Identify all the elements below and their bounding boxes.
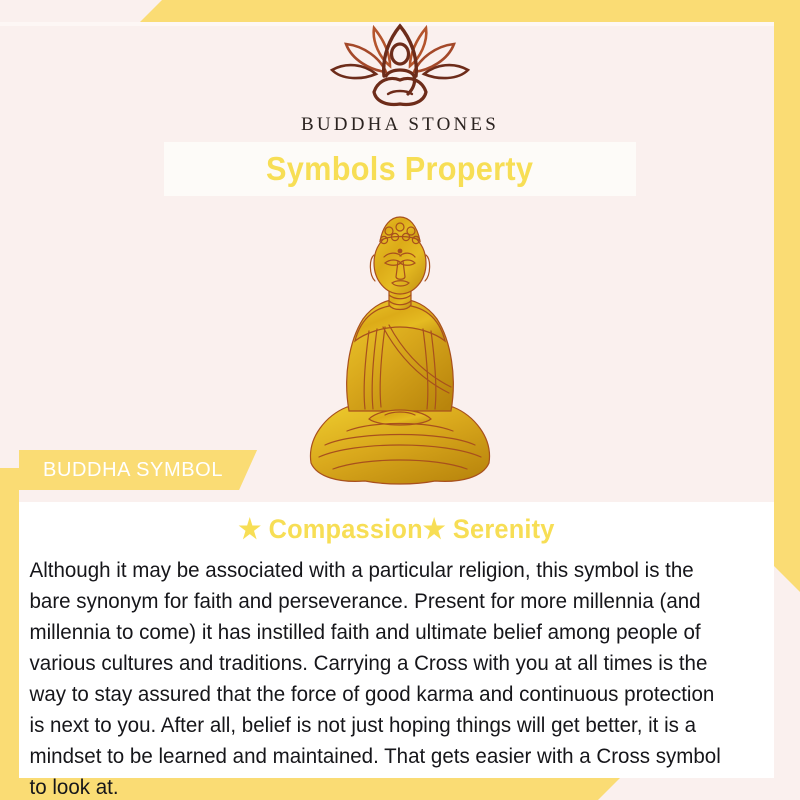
content-card: ★ Compassion★ Serenity Although it may b… <box>19 502 774 778</box>
page-title: Symbols Property <box>266 150 533 188</box>
content-paragraph: Although it may be associated with a par… <box>19 555 740 800</box>
seated-buddha-statue-icon <box>285 201 515 496</box>
section-ribbon-label: BUDDHA SYMBOL <box>43 459 223 482</box>
brand-name: BUDDHA STONES <box>0 114 800 136</box>
decorative-left-band <box>0 468 19 778</box>
content-subtitle: ★ Compassion★ Serenity <box>42 502 752 545</box>
infographic-page: BUDDHA STONES Symbols Property <box>0 0 800 800</box>
section-ribbon: BUDDHA SYMBOL <box>19 450 257 490</box>
brand-logo: BUDDHA STONES <box>0 18 800 136</box>
lotus-meditation-figure-icon <box>320 18 480 110</box>
title-banner: Symbols Property <box>164 142 636 196</box>
